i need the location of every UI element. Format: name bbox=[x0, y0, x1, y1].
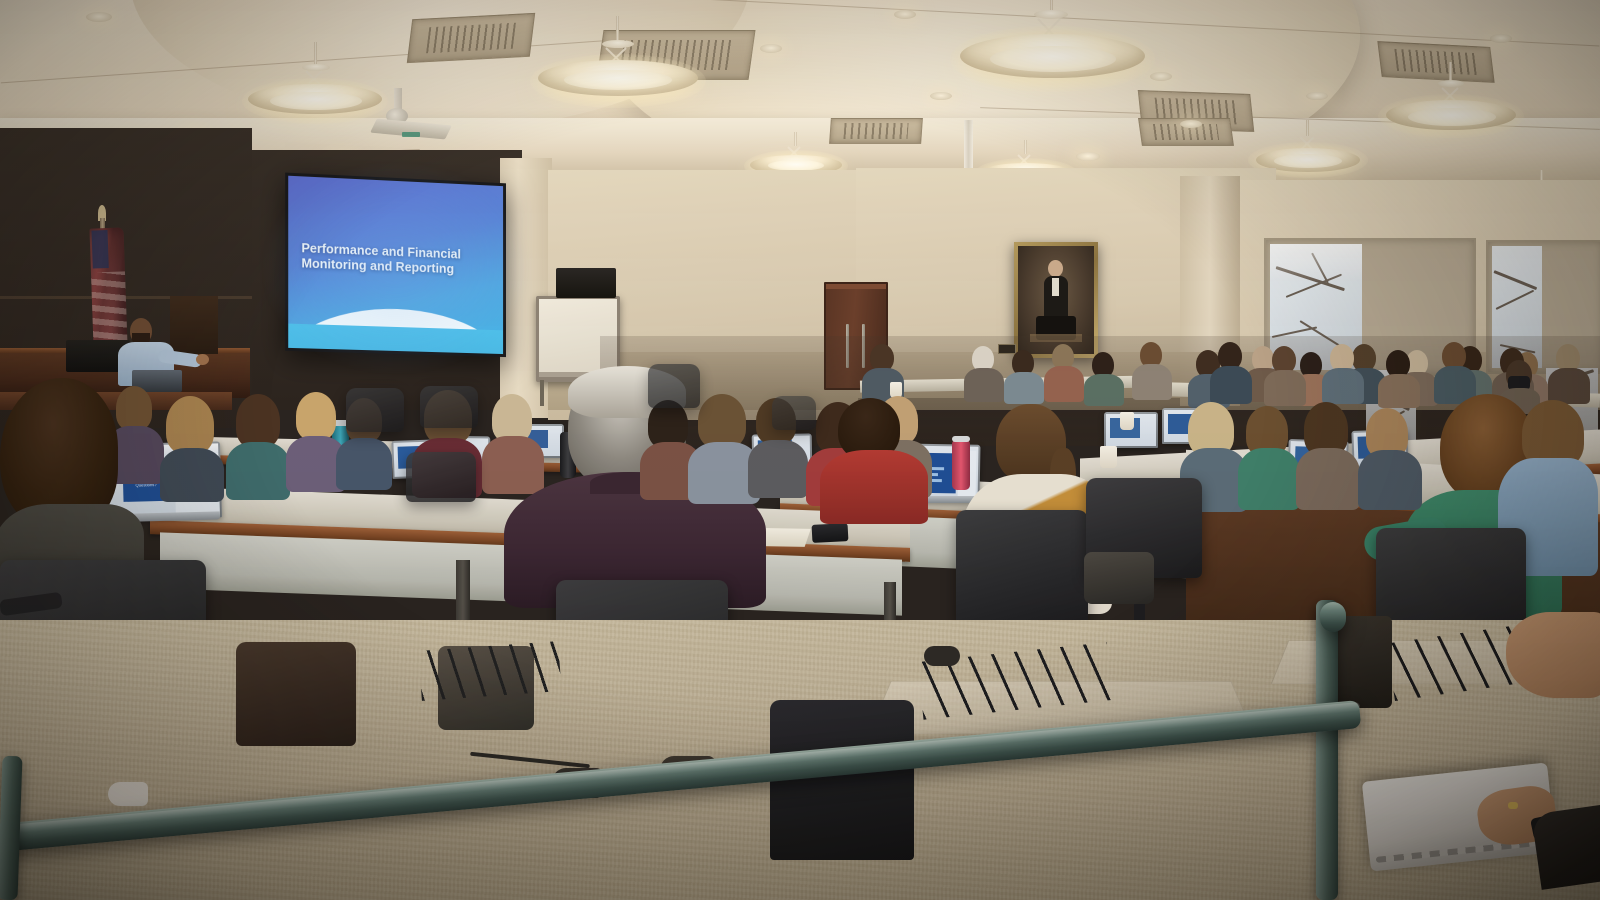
foreground-person-right bbox=[1330, 760, 1600, 900]
presentation-slide: Performance and Financial Monitoring and… bbox=[288, 176, 503, 354]
attendee-group-right-mid bbox=[1180, 392, 1440, 522]
office-chair[interactable] bbox=[346, 388, 404, 432]
coffee-cup bbox=[1120, 412, 1134, 430]
railing-end-cap bbox=[1320, 602, 1346, 632]
office-chair[interactable] bbox=[406, 452, 476, 502]
recessed-light bbox=[86, 12, 112, 22]
office-chair[interactable] bbox=[648, 364, 700, 408]
office-chair[interactable] bbox=[956, 510, 1088, 628]
foreground-hand-right-edge bbox=[1506, 612, 1600, 698]
pendant-light bbox=[240, 42, 390, 112]
shoe bbox=[108, 782, 148, 806]
bag-under-table bbox=[1084, 552, 1154, 604]
presenter-hand bbox=[196, 354, 209, 365]
recessed-light bbox=[1076, 152, 1100, 161]
ring bbox=[1508, 802, 1518, 809]
attendee-red-top bbox=[820, 398, 930, 518]
pendant-light bbox=[1376, 62, 1526, 136]
sleeve bbox=[1531, 802, 1600, 890]
hvac-vent bbox=[407, 13, 535, 63]
conference-room-photo: Performance and Financial Monitoring and… bbox=[0, 0, 1600, 900]
office-chair[interactable] bbox=[420, 386, 478, 428]
bag-under-table bbox=[236, 642, 356, 746]
pendant-light bbox=[528, 16, 708, 102]
office-chair[interactable] bbox=[772, 396, 816, 430]
bag-under-table bbox=[770, 700, 914, 860]
projection-screen-frame: Performance and Financial Monitoring and… bbox=[285, 173, 506, 358]
table-leg bbox=[456, 560, 470, 626]
wall-monitor bbox=[556, 268, 616, 298]
recessed-light bbox=[894, 10, 916, 19]
recessed-light bbox=[760, 44, 782, 53]
shoe bbox=[924, 646, 960, 666]
chair-legs bbox=[418, 641, 561, 701]
pendant-light bbox=[950, 0, 1155, 100]
ceiling-projector-left bbox=[372, 88, 452, 144]
recessed-light bbox=[1490, 34, 1512, 43]
recessed-light bbox=[930, 92, 952, 100]
recessed-light bbox=[1306, 92, 1328, 100]
railing-post bbox=[1316, 600, 1338, 900]
recessed-light bbox=[1180, 120, 1202, 128]
